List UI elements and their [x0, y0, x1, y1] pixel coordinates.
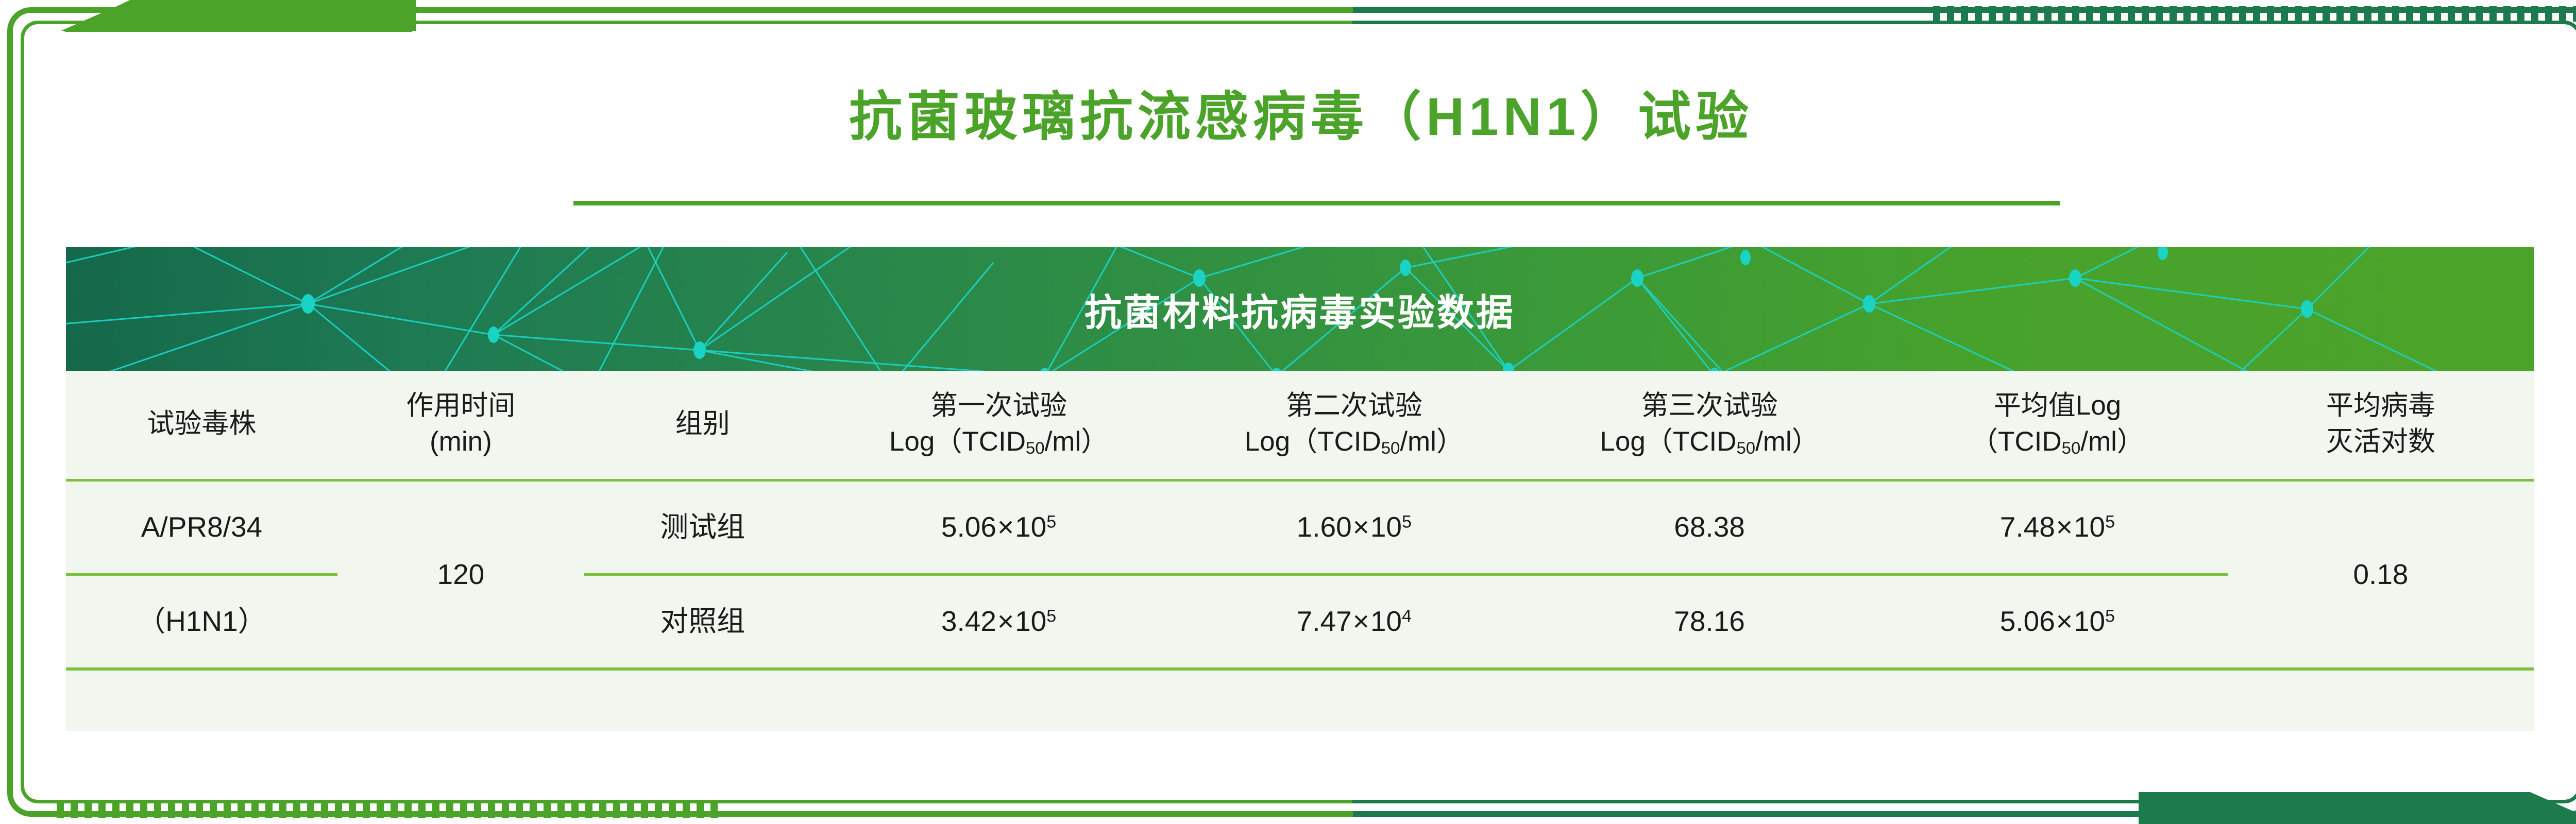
cell-test-trial-1: 5.06×105	[821, 482, 1177, 573]
cell-control-mean: 5.06×105	[1887, 576, 2228, 667]
page-title: 抗菌玻璃抗流感病毒（H1N1）试验	[0, 87, 2576, 147]
title-underline	[573, 201, 2060, 205]
cell-contact-time: 120	[337, 482, 584, 667]
table-bottom-rule	[66, 667, 2534, 671]
cell-group-test: 测试组	[584, 482, 821, 573]
table-header-row: 试验毒株 作用时间 (min) 组别 第一次试验 Log（TCID50/ml）	[66, 371, 2534, 479]
banner-title: 抗菌材料抗病毒实验数据	[66, 247, 2534, 371]
banner: 抗菌材料抗病毒实验数据	[66, 247, 2534, 371]
cell-control-trial-3: 78.16	[1532, 576, 1887, 667]
cell-test-mean: 7.48×105	[1887, 482, 2228, 573]
col-header-trial-1: 第一次试验 Log（TCID50/ml）	[821, 371, 1177, 479]
cell-test-trial-3: 68.38	[1532, 482, 1887, 573]
cell-strain-line1: A/PR8/34	[66, 482, 337, 573]
corner-wedge-top-left-accent	[61, 0, 416, 31]
col-header-contact-time: 作用时间 (min)	[337, 371, 584, 479]
col-header-trial-2: 第二次试验 Log（TCID50/ml）	[1176, 371, 1532, 479]
col-header-mean-log: 平均值Log （TCID50/ml）	[1887, 371, 2228, 479]
cell-group-control: 对照组	[584, 576, 821, 667]
cell-test-trial-2: 1.60×105	[1176, 482, 1532, 573]
tick-strip-bottom-left	[57, 802, 718, 818]
cell-strain-line2: （H1N1）	[66, 576, 337, 667]
col-header-strain: 试验毒株	[66, 371, 337, 479]
table-bottom-rule-row	[66, 667, 2534, 671]
corner-wedge-bottom-right	[2139, 792, 2576, 824]
table-row: A/PR8/34 120 测试组 5.06×105 1.60×105 68.38…	[66, 482, 2534, 573]
tick-strip-top-right	[1933, 6, 2576, 22]
data-table: 试验毒株 作用时间 (min) 组别 第一次试验 Log（TCID50/ml）	[66, 371, 2534, 671]
poster-root: 抗菌玻璃抗流感病毒（H1N1）试验	[0, 0, 2576, 824]
cell-control-trial-2: 7.47×104	[1176, 576, 1532, 667]
page-title-wrap: 抗菌玻璃抗流感病毒（H1N1）试验	[0, 87, 2576, 147]
col-header-mean-inactivation: 平均病毒 灭活对数	[2228, 371, 2534, 479]
cell-mean-inactivation-log: 0.18	[2228, 482, 2534, 667]
col-header-group: 组别	[584, 371, 821, 479]
data-table-area: 试验毒株 作用时间 (min) 组别 第一次试验 Log（TCID50/ml）	[66, 371, 2534, 731]
cell-control-trial-1: 3.42×105	[821, 576, 1177, 667]
col-header-trial-3: 第三次试验 Log（TCID50/ml）	[1532, 371, 1887, 479]
